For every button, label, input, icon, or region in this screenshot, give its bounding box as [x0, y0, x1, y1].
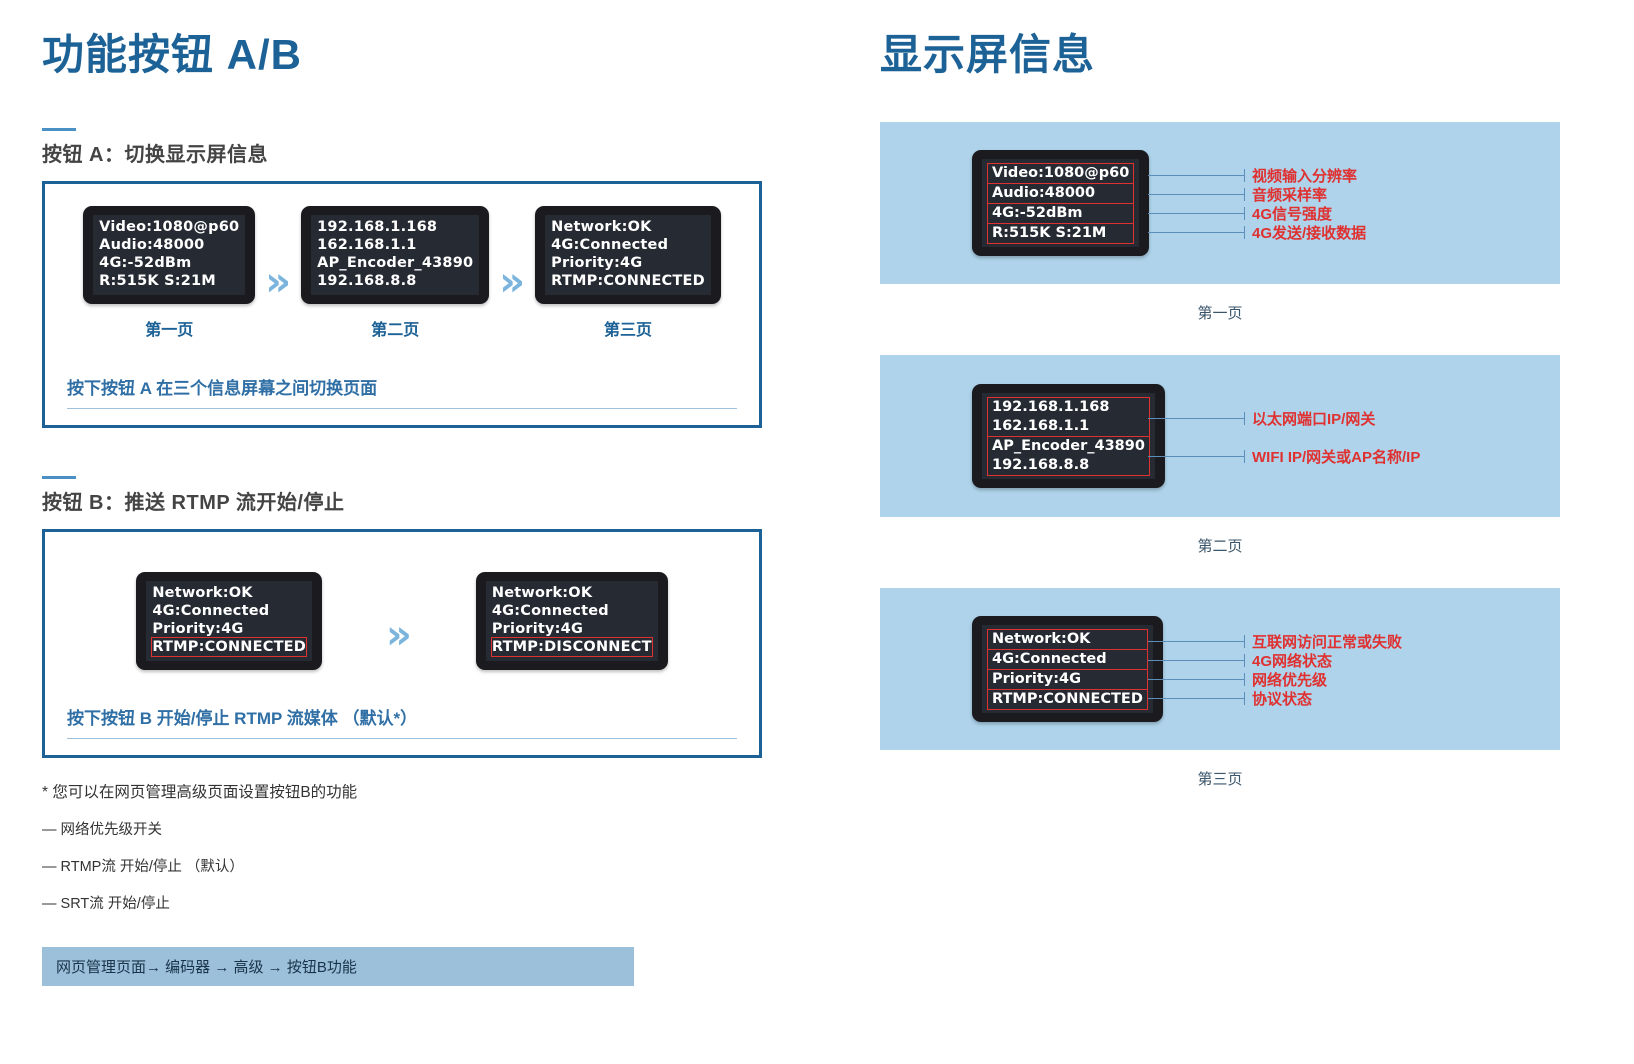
lcd-line-boxed: RTMP:CONNECTED: [987, 689, 1148, 710]
lcd-line-highlighted: RTMP:DISCONNECT: [492, 638, 652, 656]
lcd-line: Network:OK: [152, 584, 306, 602]
lcd-screen-page-3: Network:OK 4G:Connected Priority:4G RTMP…: [535, 206, 721, 304]
lcd-inner: Network:OK 4G:Connected Priority:4G RTMP…: [146, 581, 312, 661]
annotation-label: 协议状态: [1252, 688, 1312, 709]
right-column: 显示屏信息 Video:1080@p60 Audio:48000 4G:-52d…: [880, 0, 1600, 789]
lcd-inner: Video:1080@p60 Audio:48000 4G:-52dBm R:5…: [93, 215, 245, 295]
button-b-screens-row: Network:OK 4G:Connected Priority:4G RTMP…: [67, 554, 737, 670]
button-a-screens-row: Video:1080@p60 Audio:48000 4G:-52dBm R:5…: [67, 206, 737, 340]
annotation-row: 视频输入分辨率: [1148, 166, 1560, 185]
lcd-line: 192.168.1.168: [317, 218, 473, 236]
lcd-line: Network:OK: [492, 584, 652, 602]
lcd-line: 192.168.8.8: [317, 272, 473, 290]
info-panel-page-2: 192.168.1.168 162.168.1.1 AP_Encoder_438…: [880, 355, 1560, 517]
annotation-row: 4G信号强度: [1148, 204, 1560, 223]
lcd-line-boxed: 4G:Connected: [987, 649, 1148, 670]
annotation-label: WIFI IP/网关或AP名称/IP: [1252, 446, 1420, 467]
connector-tick: [1244, 226, 1245, 239]
lcd-screen-page-1-annotated: Video:1080@p60 Audio:48000 4G:-52dBm R:5…: [972, 150, 1149, 256]
lcd-inner: Video:1080@p60 Audio:48000 4G:-52dBm R:5…: [982, 159, 1139, 247]
annotation-label: 网络优先级: [1252, 669, 1327, 690]
lcd-line-highlighted: RTMP:CONNECTED: [152, 638, 306, 656]
screen-cell-page-3: Network:OK 4G:Connected Priority:4G RTMP…: [535, 206, 721, 340]
lcd-inner: 192.168.1.168 162.168.1.1 AP_Encoder_438…: [982, 393, 1155, 479]
button-a-caption: 按下按钮 A 在三个信息屏幕之间切换页面: [67, 374, 737, 409]
info-page-label-2: 第二页: [880, 535, 1560, 556]
lcd-line: Network:OK: [551, 218, 705, 236]
lcd-line: Priority:4G: [551, 254, 705, 272]
annotation-row: 音频采样率: [1148, 185, 1560, 204]
screen-cell-page-1: Video:1080@p60 Audio:48000 4G:-52dBm R:5…: [83, 206, 255, 340]
lcd-line-boxed: 4G:-52dBm: [987, 203, 1134, 224]
right-page-title: 显示屏信息: [880, 30, 1600, 80]
annotation-label: 4G信号强度: [1252, 203, 1332, 224]
lcd-line: 192.168.1.168: [992, 398, 1145, 417]
lcd-line: RTMP:CONNECTED: [551, 272, 705, 290]
lcd-screen-page-1: Video:1080@p60 Audio:48000 4G:-52dBm R:5…: [83, 206, 255, 304]
annotations-page-3: 互联网访问正常或失败 4G网络状态 网络优先级 协议状态: [1148, 588, 1560, 750]
annotations-page-2: 以太网端口IP/网关 WIFI IP/网关或AP名称/IP: [1148, 355, 1560, 517]
annotation-row: 协议状态: [1148, 689, 1560, 708]
connector-line: [1148, 194, 1244, 195]
breadcrumb: 网页管理页面→ 编码器 → 高级 → 按钮B功能: [42, 947, 634, 986]
info-block-page-3: Network:OK 4G:Connected Priority:4G RTMP…: [880, 588, 1600, 789]
footnote-main: * 您可以在网页管理高级页面设置按钮B的功能: [42, 780, 762, 802]
connector-tick: [1244, 692, 1245, 705]
left-column: 功能按钮 A/B 按钮 A：切换显示屏信息 Video:1080@p60 Aud…: [42, 0, 762, 986]
annotation-row: 以太网端口IP/网关: [1148, 409, 1560, 428]
annotation-label: 4G网络状态: [1252, 650, 1332, 671]
lcd-line: 4G:Connected: [551, 236, 705, 254]
connector-line: [1148, 418, 1244, 419]
annotation-label: 以太网端口IP/网关: [1252, 408, 1375, 429]
lcd-inner: Network:OK 4G:Connected Priority:4G RTMP…: [545, 215, 711, 295]
lcd-line: 4G:Connected: [492, 602, 652, 620]
page-label-2: 第二页: [371, 316, 419, 340]
connector-tick: [1244, 412, 1245, 425]
annotation-label: 互联网访问正常或失败: [1252, 631, 1402, 652]
connector-tick: [1244, 450, 1245, 463]
lcd-line-group-boxed: 192.168.1.168 162.168.1.1: [987, 397, 1150, 437]
annotation-label: 视频输入分辨率: [1252, 165, 1357, 186]
double-chevron-right-icon: »: [265, 262, 291, 302]
section-rule: [42, 128, 76, 131]
connector-line: [1148, 456, 1244, 457]
info-page-label-3: 第三页: [880, 768, 1560, 789]
connector-line: [1148, 641, 1244, 642]
lcd-line-boxed: Video:1080@p60: [987, 163, 1134, 184]
lcd-line: AP_Encoder_43890: [992, 437, 1145, 456]
lcd-screen-rtmp-disconnect: Network:OK 4G:Connected Priority:4G RTMP…: [476, 572, 668, 670]
section-button-a-header: 按钮 A：切换显示屏信息: [42, 128, 762, 167]
lcd-line: Priority:4G: [492, 620, 652, 638]
annotation-label: 4G发送/接收数据: [1252, 222, 1366, 243]
screen-cell-rtmp-disconnect: Network:OK 4G:Connected Priority:4G RTMP…: [476, 572, 668, 670]
screen-cell-page-2: 192.168.1.168 162.168.1.1 AP_Encoder_438…: [301, 206, 489, 340]
page-label-1: 第一页: [145, 316, 193, 340]
annotation-row: 互联网访问正常或失败: [1148, 632, 1560, 651]
button-b-diagram-frame: Network:OK 4G:Connected Priority:4G RTMP…: [42, 529, 762, 758]
lcd-screen-page-2-annotated: 192.168.1.168 162.168.1.1 AP_Encoder_438…: [972, 384, 1165, 488]
connector-tick: [1244, 207, 1245, 220]
connector-line: [1148, 213, 1244, 214]
lcd-line: 4G:Connected: [152, 602, 306, 620]
screen-cell-rtmp-connected: Network:OK 4G:Connected Priority:4G RTMP…: [136, 572, 322, 670]
lcd-line: Audio:48000: [99, 236, 239, 254]
page-label-3: 第三页: [604, 316, 652, 340]
section-button-b-header: 按钮 B：推送 RTMP 流开始/停止: [42, 476, 762, 515]
lcd-line-boxed: Network:OK: [987, 629, 1148, 650]
annotation-row: 4G发送/接收数据: [1148, 223, 1560, 242]
button-b-caption: 按下按钮 B 开始/停止 RTMP 流媒体 （默认*）: [67, 704, 737, 739]
connector-line: [1148, 232, 1244, 233]
footnote-item: — SRT流 开始/停止: [42, 892, 762, 913]
page-title: 功能按钮 A/B: [42, 30, 762, 80]
connector-tick: [1244, 635, 1245, 648]
lcd-line-boxed: R:515K S:21M: [987, 223, 1134, 244]
connector-tick: [1244, 673, 1245, 686]
info-block-page-2: 192.168.1.168 162.168.1.1 AP_Encoder_438…: [880, 355, 1600, 556]
lcd-line: AP_Encoder_43890: [317, 254, 473, 272]
section-title-button-b: 按钮 B：推送 RTMP 流开始/停止: [42, 486, 762, 515]
annotation-row: 网络优先级: [1148, 670, 1560, 689]
double-chevron-right-icon: »: [386, 615, 412, 655]
lcd-line: 162.168.1.1: [992, 417, 1145, 436]
connector-line: [1148, 660, 1244, 661]
annotations-page-1: 视频输入分辨率 音频采样率 4G信号强度 4G发送/接收数据: [1148, 122, 1560, 284]
lcd-inner: Network:OK 4G:Connected Priority:4G RTMP…: [486, 581, 658, 661]
annotation-row: WIFI IP/网关或AP名称/IP: [1148, 447, 1560, 466]
info-block-page-1: Video:1080@p60 Audio:48000 4G:-52dBm R:5…: [880, 122, 1600, 323]
lcd-line-group-boxed: AP_Encoder_43890 192.168.8.8: [987, 436, 1150, 476]
lcd-line: Priority:4G: [152, 620, 306, 638]
info-panel-page-1: Video:1080@p60 Audio:48000 4G:-52dBm R:5…: [880, 122, 1560, 284]
lcd-line: 162.168.1.1: [317, 236, 473, 254]
button-a-diagram-frame: Video:1080@p60 Audio:48000 4G:-52dBm R:5…: [42, 181, 762, 428]
lcd-line: R:515K S:21M: [99, 272, 239, 290]
connector-line: [1148, 175, 1244, 176]
lcd-screen-rtmp-connected: Network:OK 4G:Connected Priority:4G RTMP…: [136, 572, 322, 670]
lcd-line: Video:1080@p60: [99, 218, 239, 236]
section-rule: [42, 476, 76, 479]
section-title-button-a: 按钮 A：切换显示屏信息: [42, 138, 762, 167]
footnote-item: — RTMP流 开始/停止 （默认）: [42, 855, 762, 876]
connector-tick: [1244, 169, 1245, 182]
lcd-inner: 192.168.1.168 162.168.1.1 AP_Encoder_438…: [311, 215, 479, 295]
lcd-line-boxed: Priority:4G: [987, 669, 1148, 690]
annotation-row: 4G网络状态: [1148, 651, 1560, 670]
footnote-item: — 网络优先级开关: [42, 818, 762, 839]
lcd-line-boxed: Audio:48000: [987, 183, 1134, 204]
connector-line: [1148, 698, 1244, 699]
info-panel-page-3: Network:OK 4G:Connected Priority:4G RTMP…: [880, 588, 1560, 750]
info-page-label-1: 第一页: [880, 302, 1560, 323]
lcd-screen-page-2: 192.168.1.168 162.168.1.1 AP_Encoder_438…: [301, 206, 489, 304]
connector-line: [1148, 679, 1244, 680]
lcd-line: 192.168.8.8: [992, 456, 1145, 475]
double-chevron-right-icon: »: [499, 262, 525, 302]
lcd-screen-page-3-annotated: Network:OK 4G:Connected Priority:4G RTMP…: [972, 616, 1163, 722]
connector-tick: [1244, 654, 1245, 667]
annotation-label: 音频采样率: [1252, 184, 1327, 205]
lcd-line: 4G:-52dBm: [99, 254, 239, 272]
lcd-inner: Network:OK 4G:Connected Priority:4G RTMP…: [982, 625, 1153, 713]
connector-tick: [1244, 188, 1245, 201]
